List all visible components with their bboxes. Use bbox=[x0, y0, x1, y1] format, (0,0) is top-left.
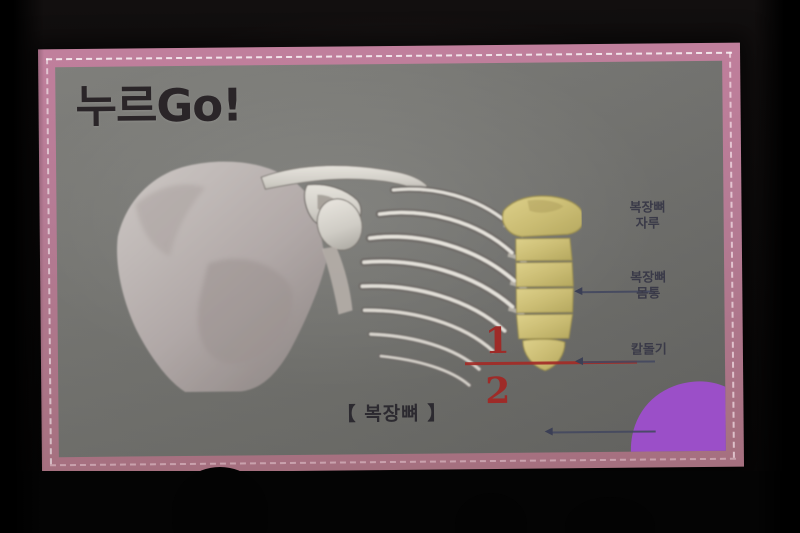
callout-label-xiphoid-line1: 칼돌기 bbox=[603, 342, 695, 359]
audience-head-silhouette bbox=[172, 467, 268, 533]
foreground-darkness bbox=[0, 471, 800, 533]
callout-label-body: 복장뼈 몸통 bbox=[602, 270, 694, 303]
callout-label-manubrium-line2: 자루 bbox=[602, 216, 694, 233]
callout-line-body bbox=[580, 360, 655, 363]
projected-slide-photo: 누르Go! bbox=[0, 0, 800, 533]
vignette-right bbox=[754, 0, 800, 533]
slide-caption: 【 복장뼈 】 bbox=[58, 396, 725, 429]
callout-label-xiphoid: 칼돌기 bbox=[603, 342, 695, 359]
slide-page: 누르Go! bbox=[55, 61, 726, 457]
anatomy-illustration: 1 2 bbox=[111, 140, 583, 395]
callout-label-body-line1: 복장뼈 bbox=[602, 270, 694, 287]
callout-label-manubrium: 복장뼈 자루 bbox=[601, 200, 693, 233]
callout-arrow-xiphoid bbox=[545, 427, 553, 435]
audience-head-silhouette bbox=[455, 493, 527, 533]
callout-label-manubrium-line1: 복장뼈 bbox=[601, 200, 693, 217]
audience-head-silhouette bbox=[565, 497, 655, 533]
slide: 누르Go! bbox=[38, 43, 744, 474]
callout-line-xiphoid bbox=[550, 430, 656, 433]
vignette-left bbox=[0, 0, 44, 533]
slide-title: 누르Go! bbox=[75, 82, 242, 129]
callout-label-body-line2: 몸통 bbox=[602, 286, 694, 303]
